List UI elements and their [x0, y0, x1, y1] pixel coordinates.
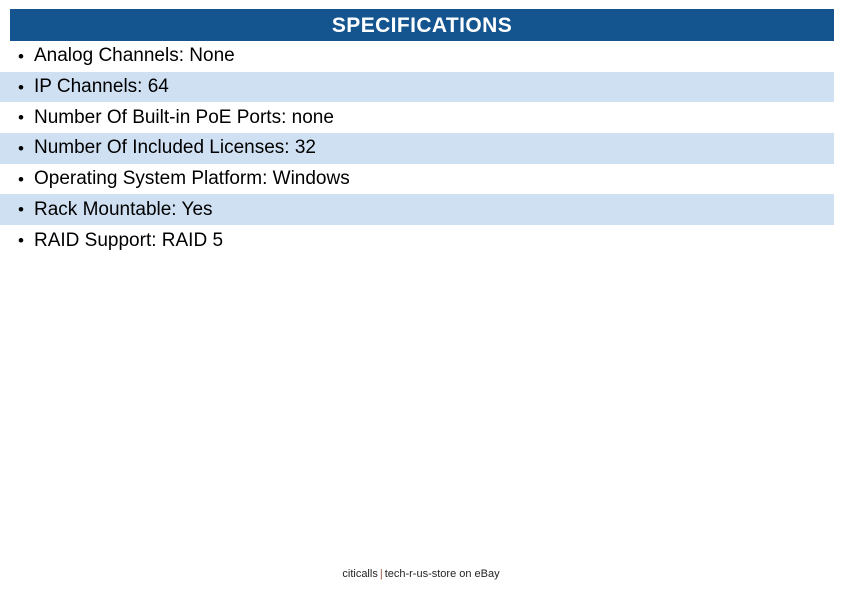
spec-row: •Number Of Built-in PoE Ports: none — [0, 102, 834, 133]
spec-row-text: RAID Support: RAID 5 — [34, 230, 223, 252]
spec-row-text: Operating System Platform: Windows — [34, 168, 350, 190]
footer: citicalls|tech-r-us-store on eBay — [0, 568, 842, 581]
bullet-icon: • — [0, 79, 24, 96]
specifications-header-banner: SPECIFICATIONS — [10, 9, 834, 41]
specifications-page: SPECIFICATIONS •Analog Channels: None•IP… — [0, 0, 842, 593]
spec-row: •Number Of Included Licenses: 32 — [0, 133, 834, 164]
spec-row-text: IP Channels: 64 — [34, 76, 169, 98]
bullet-icon: • — [0, 232, 24, 249]
bullet-icon: • — [0, 109, 24, 126]
bullet-icon: • — [0, 171, 24, 188]
spec-row-text: Number Of Included Licenses: 32 — [34, 137, 316, 159]
page-title: SPECIFICATIONS — [332, 15, 512, 36]
spec-row-text: Analog Channels: None — [34, 45, 235, 67]
footer-separator: | — [378, 568, 385, 580]
footer-store-name: citicalls — [342, 568, 377, 580]
specifications-list: •Analog Channels: None•IP Channels: 64•N… — [0, 41, 834, 256]
spec-row: •IP Channels: 64 — [0, 72, 834, 103]
bullet-icon: • — [0, 140, 24, 157]
footer-seller-line: tech-r-us-store on eBay — [385, 568, 500, 580]
bullet-icon: • — [0, 48, 24, 65]
spec-row: •Operating System Platform: Windows — [0, 164, 834, 195]
spec-row-text: Rack Mountable: Yes — [34, 199, 213, 221]
spec-row: •Rack Mountable: Yes — [0, 194, 834, 225]
bullet-icon: • — [0, 201, 24, 218]
spec-row: •Analog Channels: None — [0, 41, 834, 72]
spec-row: •RAID Support: RAID 5 — [0, 225, 834, 256]
spec-row-text: Number Of Built-in PoE Ports: none — [34, 107, 334, 129]
